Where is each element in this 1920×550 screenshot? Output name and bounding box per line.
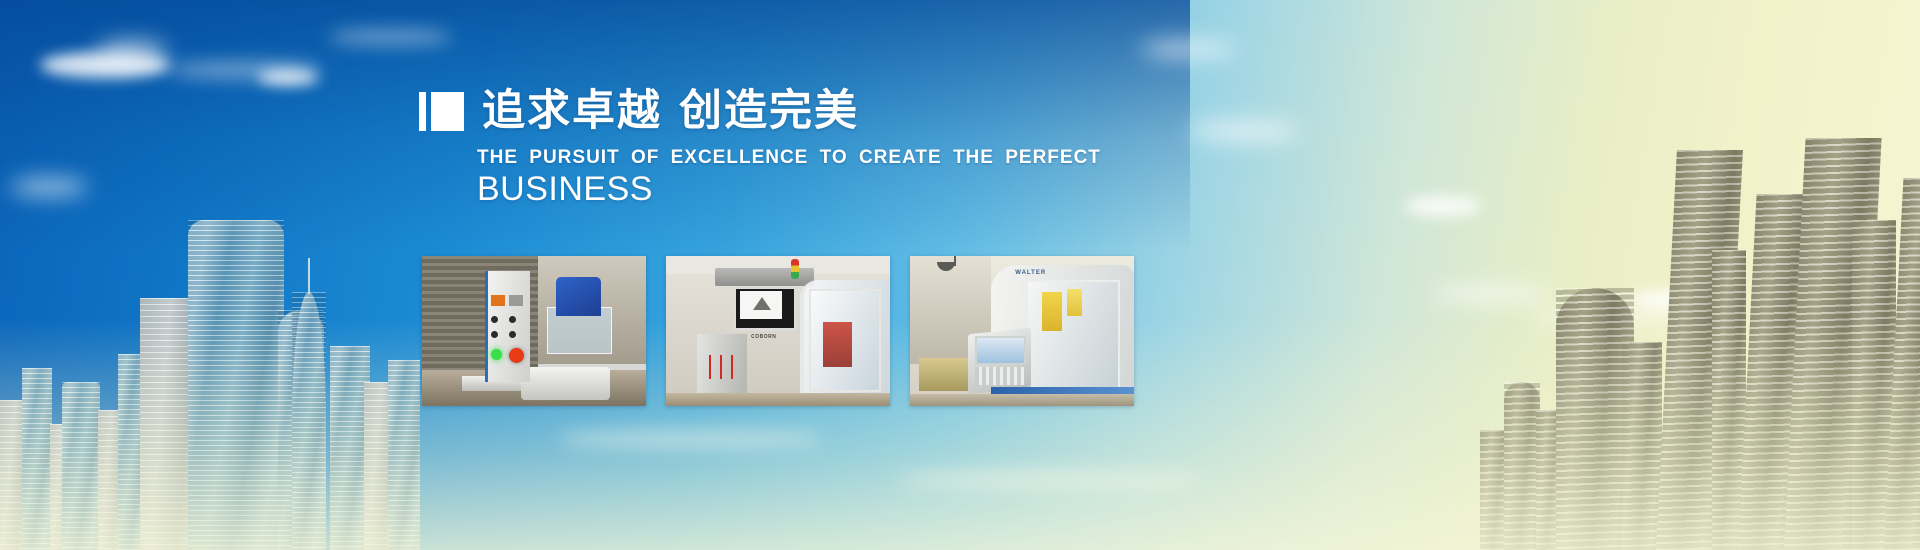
workshop-floor bbox=[910, 394, 1134, 406]
headline-chinese: 追求卓越 创造完美 bbox=[482, 90, 859, 133]
panel-display-orange bbox=[491, 295, 504, 306]
company-hero-banner: 追求卓越 创造完美 THE PURSUIT OF EXCELLENCE TO C… bbox=[0, 0, 1920, 550]
headline-row: 追求卓越 创造完美 bbox=[419, 90, 859, 133]
machine-yellow-panel bbox=[1042, 292, 1062, 331]
screen-triangle-icon bbox=[753, 297, 771, 310]
subtitle-english: THE PURSUIT OF EXCELLENCE TO CREATE THE … bbox=[477, 147, 1101, 169]
photo-coborn-cnc-machine[interactable]: COBORN bbox=[666, 256, 890, 406]
machine-base bbox=[521, 367, 611, 400]
business-word: BUSINESS bbox=[477, 170, 653, 209]
logo-mark bbox=[419, 92, 464, 131]
machine-yellow-panel bbox=[1067, 289, 1083, 316]
console-keypad bbox=[975, 367, 1024, 385]
workshop-floor bbox=[666, 393, 890, 407]
console-screen bbox=[975, 336, 1026, 366]
cabinet-stripe bbox=[720, 355, 722, 379]
machine-brand-label: WALTER bbox=[1015, 270, 1046, 276]
signal-tower-lamp-icon bbox=[791, 259, 799, 279]
machine-head bbox=[556, 277, 601, 316]
photo-walter-cnc-grinding-machine[interactable]: WALTER bbox=[910, 256, 1134, 406]
cabinet-stripe bbox=[709, 355, 711, 379]
photo-gallery: COBORN WALTER bbox=[422, 256, 1134, 406]
photo-cnc-machine-control-panel[interactable] bbox=[422, 256, 646, 406]
machine-brand-label: COBORN bbox=[751, 334, 776, 340]
emergency-stop-button-icon bbox=[509, 348, 524, 363]
logo-bar-icon bbox=[419, 92, 426, 131]
control-panel bbox=[485, 271, 531, 382]
cabinet-stripe bbox=[731, 355, 733, 379]
logo-square-icon bbox=[431, 92, 464, 131]
machine-hood bbox=[715, 268, 814, 286]
machine-red-component bbox=[823, 322, 852, 367]
banner-content: 追求卓越 创造完美 THE PURSUIT OF EXCELLENCE TO C… bbox=[0, 0, 1920, 550]
panel-display-grey bbox=[509, 295, 522, 306]
machine-blue-stripe bbox=[991, 387, 1134, 395]
